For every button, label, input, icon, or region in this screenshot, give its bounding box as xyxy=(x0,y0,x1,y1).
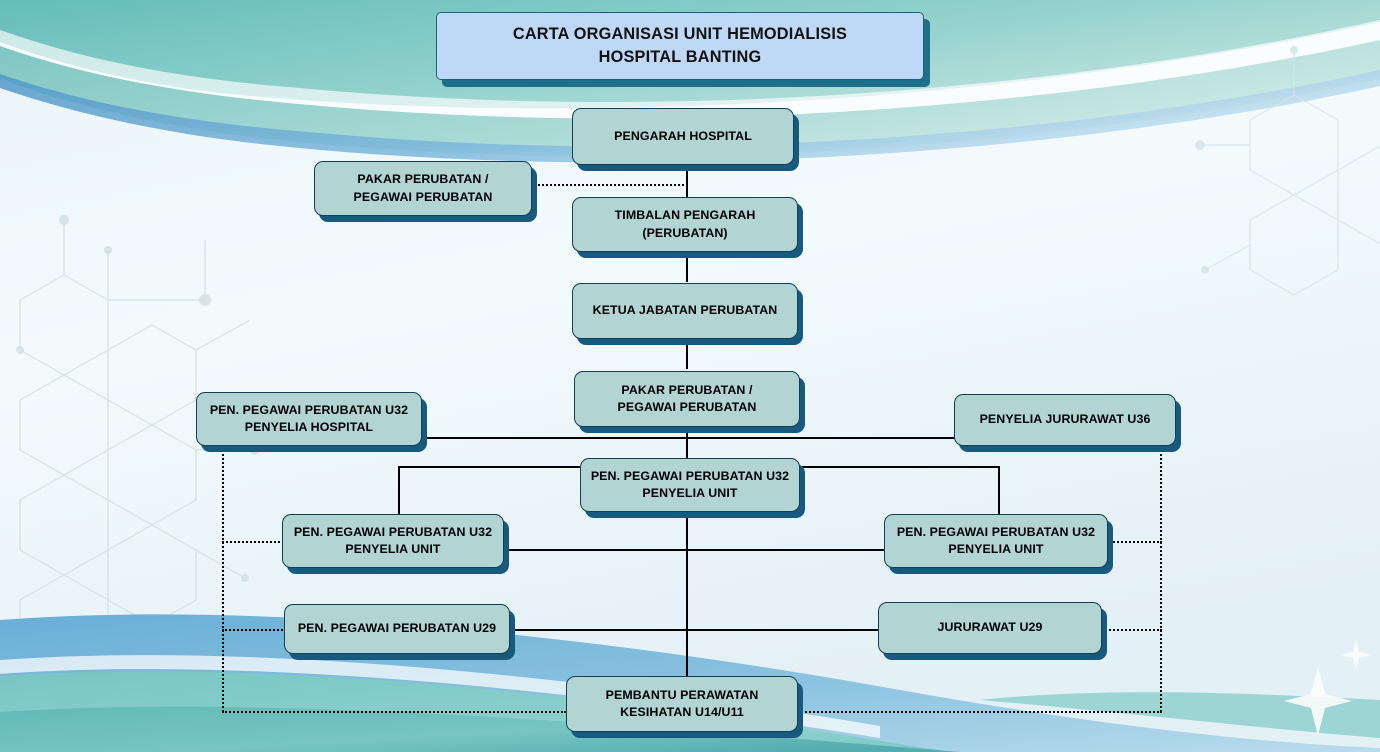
dotted-right-to-jururawat xyxy=(1102,629,1162,631)
dotted-left-to-unit xyxy=(222,541,284,543)
connector-timbalan-ketua xyxy=(686,252,688,282)
node-label: PAKAR PERUBATAN / PEGAWAI PERUBATAN xyxy=(618,382,757,416)
node-penyelia-unit-center[interactable]: PEN. PEGAWAI PERUBATAN U32 PENYELIA UNIT xyxy=(580,458,800,512)
node-label: PEN. PEGAWAI PERUBATAN U29 xyxy=(298,620,496,637)
org-chart-slide: CARTA ORGANISASI UNIT HEMODIALISIS HOSPI… xyxy=(0,0,1380,752)
connector-pengarah-timbalan xyxy=(686,165,688,200)
node-label: PEN. PEGAWAI PERUBATAN U32 PENYELIA HOSP… xyxy=(210,402,408,436)
node-label: JURURAWAT U29 xyxy=(937,619,1042,636)
connector-bracket-left-top xyxy=(398,466,588,468)
node-label: PAKAR PERUBATAN / PEGAWAI PERUBATAN xyxy=(354,171,493,205)
dotted-left-to-pembantu xyxy=(222,711,566,713)
node-jururawat-u29[interactable]: JURURAWAT U29 xyxy=(878,602,1102,654)
connector-horizontal-bus xyxy=(422,437,958,439)
node-ketua-jabatan-perubatan[interactable]: KETUA JABATAN PERUBATAN xyxy=(572,283,798,339)
node-pakar-perubatan-center[interactable]: PAKAR PERUBATAN / PEGAWAI PERUBATAN xyxy=(574,371,800,427)
node-pakar-perubatan-left[interactable]: PAKAR PERUBATAN / PEGAWAI PERUBATAN xyxy=(314,161,532,216)
node-penyelia-hospital[interactable]: PEN. PEGAWAI PERUBATAN U32 PENYELIA HOSP… xyxy=(196,392,422,446)
node-label: PENYELIA JURURAWAT U36 xyxy=(980,411,1151,428)
node-label: TIMBALAN PENGARAH (PERUBATAN) xyxy=(615,207,756,241)
chart-title-text: CARTA ORGANISASI UNIT HEMODIALISIS HOSPI… xyxy=(513,23,847,69)
connector-ketua-pakar xyxy=(686,339,688,369)
node-pembantu-perawatan-kesihatan[interactable]: PEMBANTU PERAWATAN KESIHATAN U14/U11 xyxy=(566,676,798,732)
dotted-left-spine xyxy=(222,446,224,712)
node-penyelia-unit-left[interactable]: PEN. PEGAWAI PERUBATAN U32 PENYELIA UNIT xyxy=(282,514,504,568)
node-label: KETUA JABATAN PERUBATAN xyxy=(593,302,778,319)
connector-pakar-bus xyxy=(686,427,688,459)
node-label: PEN. PEGAWAI PERUBATAN U32 PENYELIA UNIT xyxy=(897,524,1095,558)
node-label: PEMBANTU PERAWATAN KESIHATAN U14/U11 xyxy=(606,687,759,721)
dotted-right-to-pembantu xyxy=(798,711,1162,713)
node-label: PEN. PEGAWAI PERUBATAN U32 PENYELIA UNIT xyxy=(294,524,492,558)
chart-title-banner: CARTA ORGANISASI UNIT HEMODIALISIS HOSPI… xyxy=(436,12,924,80)
connector-u29-row-link xyxy=(510,629,880,631)
node-pengarah-hospital[interactable]: PENGARAH HOSPITAL xyxy=(572,108,794,165)
node-label: PENGARAH HOSPITAL xyxy=(614,128,752,145)
node-pegawai-perubatan-u29[interactable]: PEN. PEGAWAI PERUBATAN U29 xyxy=(284,604,510,654)
node-penyelia-unit-right[interactable]: PEN. PEGAWAI PERUBATAN U32 PENYELIA UNIT xyxy=(884,514,1108,568)
dotted-right-to-unit xyxy=(1110,541,1162,543)
node-label: PEN. PEGAWAI PERUBATAN U32 PENYELIA UNIT xyxy=(591,468,789,502)
dotted-left-to-u29 xyxy=(222,629,286,631)
connector-unit-to-pembantu xyxy=(686,512,688,700)
dotted-pengarah-to-pakar-left xyxy=(538,184,688,186)
connector-unit-row-link xyxy=(505,549,885,551)
node-timbalan-pengarah[interactable]: TIMBALAN PENGARAH (PERUBATAN) xyxy=(572,197,798,252)
node-penyelia-jururawat[interactable]: PENYELIA JURURAWAT U36 xyxy=(954,394,1176,446)
dotted-right-spine xyxy=(1160,446,1162,712)
connector-bracket-right-top xyxy=(800,466,999,468)
